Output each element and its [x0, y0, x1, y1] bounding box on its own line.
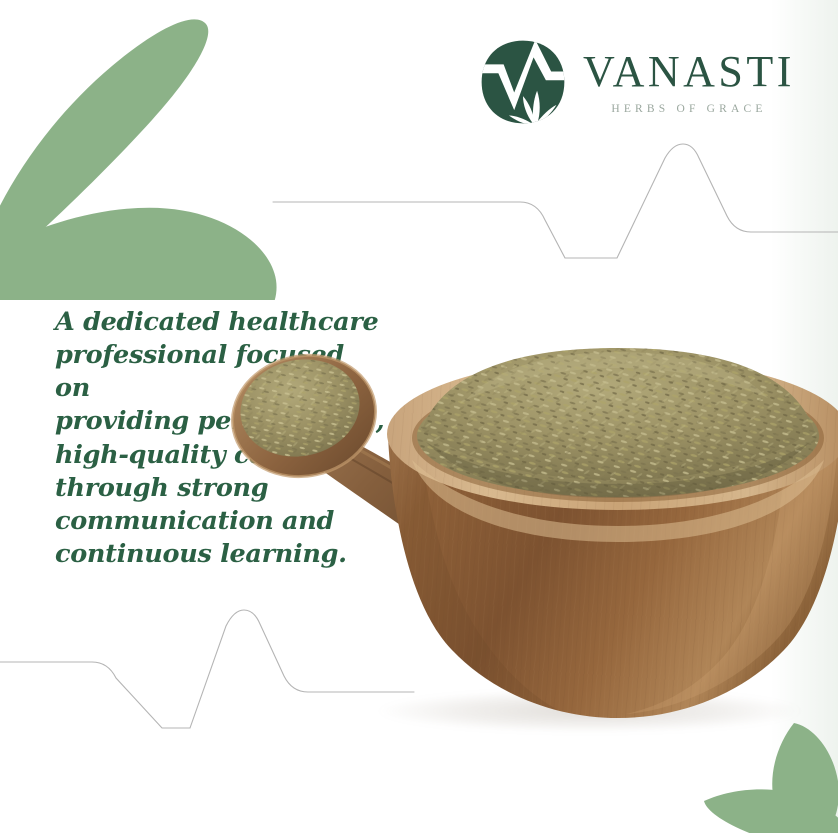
wave-line-top-icon [265, 140, 838, 260]
brand-tagline: HERBS OF GRACE [611, 103, 766, 115]
vanasti-leaf-monogram-icon [479, 38, 567, 126]
brand-name: VANASTI [583, 50, 795, 94]
wooden-bowl [387, 348, 838, 718]
leaf-pair-top-left-icon [0, 0, 296, 300]
wooden-bowl-of-cumin-seeds-with-spoon-image [226, 338, 838, 738]
brand-logo[interactable]: VANASTI HERBS OF GRACE [479, 38, 795, 126]
brand-wordmark-group: VANASTI HERBS OF GRACE [583, 50, 795, 115]
poster-canvas: VANASTI HERBS OF GRACE A dedicated healt… [0, 0, 838, 833]
